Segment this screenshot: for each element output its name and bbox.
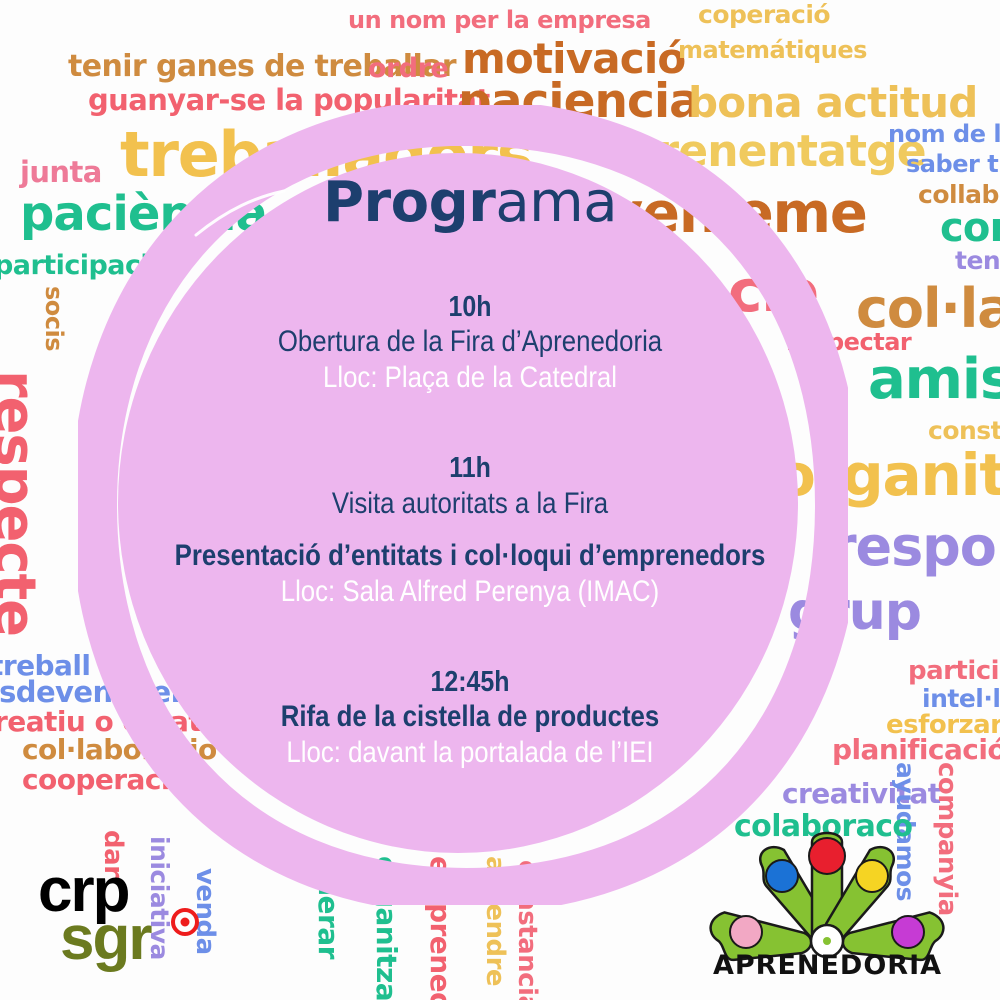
wordcloud-word: junta	[20, 158, 102, 187]
wordcloud-word: respecte	[0, 370, 42, 636]
wordcloud-word: bona actitud	[688, 82, 977, 124]
wordcloud-word: organitzar	[372, 856, 400, 1000]
entry-3-place: Lloc: davant la portalada de l’IEI	[169, 735, 771, 771]
wordcloud-word: aprendre	[482, 856, 508, 986]
wordcloud-word: comunicació	[940, 208, 1000, 248]
entry-1-time: 10h	[169, 291, 771, 324]
wordcloud-word: aprenentatge	[598, 130, 926, 174]
wordcloud-word: coperació	[698, 2, 830, 27]
schedule-entry-3: 12:45h Rifa de la cistella de productes …	[120, 666, 820, 771]
title-bold-part: Progr	[323, 170, 495, 235]
wordcloud-word: constancia	[514, 860, 540, 1000]
entry-3-event: Rifa de la cistella de productes	[169, 699, 771, 735]
page-title: Programa	[120, 175, 820, 231]
wordcloud-word: tenir	[955, 248, 1000, 273]
wordcloud-word: socis	[42, 286, 66, 351]
entry-2-time: 11h	[169, 452, 771, 485]
schedule-entry-1: 10h Obertura de la Fira d’Aprenedoria Ll…	[120, 291, 820, 396]
entry-2-event: Visita autoritats a la Fira	[169, 486, 771, 522]
wordcloud-word: amistat	[868, 352, 1000, 408]
wordcloud-word: liderar	[314, 858, 342, 959]
wordcloud-word: responsabilitat	[830, 520, 1000, 574]
wordcloud-word: un nom per la empresa	[348, 8, 651, 32]
wordcloud-word: saber treballar	[906, 152, 1000, 176]
entry-1-event: Obertura de la Fira d’Aprenedoria	[169, 324, 771, 360]
sgr-wordmark: sgr	[60, 908, 150, 970]
wordcloud-word: collaborar	[918, 182, 1000, 207]
program-content: Programa 10h Obertura de la Fira d’Apren…	[120, 175, 820, 801]
entry-2-place: Lloc: Sala Alfred Perenya (IMAC)	[169, 574, 771, 610]
wordcloud-word: ordre	[368, 55, 448, 82]
wordcloud-word: planificació	[832, 736, 1000, 764]
title-light-part: ama	[495, 170, 617, 235]
aprenedoria-wordmark: APRENEDORIA	[700, 950, 955, 981]
wordcloud-word: nom de la empresa	[888, 122, 1000, 146]
wordcloud-word: constancia	[928, 418, 1000, 443]
wordcloud-word: matemátiques	[678, 38, 867, 62]
bullseye-icon	[171, 908, 199, 936]
schedule-entry-2: 11h Visita autoritats a la Fira Presenta…	[120, 452, 820, 609]
entry-3-time: 12:45h	[169, 666, 771, 699]
wordcloud-word: intel·ligent	[922, 686, 1000, 711]
entry-2-event-secondary: Presentació d’entitats i col·loqui d’emp…	[169, 538, 771, 574]
wordcloud-word: guanyar-se la popularitat	[88, 86, 490, 115]
entry-1-place: Lloc: Plaça de la Catedral	[169, 360, 771, 396]
wordcloud-word: emprenedor	[426, 856, 454, 1000]
crp-sgr-logo: crp sgr	[38, 860, 228, 980]
poster-canvas: un nom per la empresacoperaciótenir gane…	[0, 0, 1000, 1000]
wordcloud-word: participar	[908, 658, 1000, 684]
